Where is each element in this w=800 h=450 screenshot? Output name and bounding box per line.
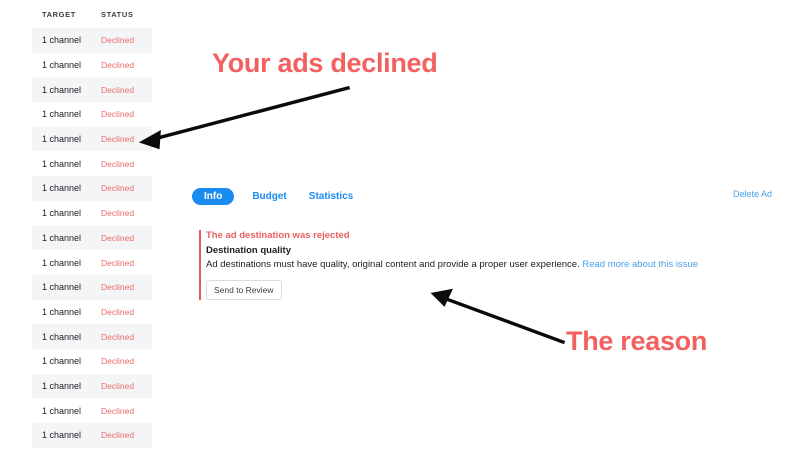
cell-target: 1 channel (42, 381, 101, 391)
cell-status: Declined (101, 233, 151, 243)
alert-body: Ad destinations must have quality, origi… (206, 258, 772, 272)
cell-target: 1 channel (42, 406, 101, 416)
cell-status: Declined (101, 183, 151, 193)
tab-info[interactable]: Info (192, 188, 234, 205)
cell-target: 1 channel (42, 60, 101, 70)
tab-bar: Info Budget Statistics (192, 186, 772, 206)
cell-target: 1 channel (42, 258, 101, 268)
table-row[interactable]: 1 channelDeclined (32, 374, 152, 399)
delete-ad-link[interactable]: Delete Ad (733, 189, 772, 199)
arrow-line-to-alert (441, 297, 563, 342)
cell-status: Declined (101, 109, 151, 119)
ads-table: TARGET STATUS 1 channelDeclined1 channel… (32, 0, 152, 448)
cell-status: Declined (101, 159, 151, 169)
alert-title: The ad destination was rejected (206, 230, 772, 241)
cell-status: Declined (101, 35, 151, 45)
cell-status: Declined (101, 60, 151, 70)
table-row[interactable]: 1 channelDeclined (32, 151, 152, 176)
cell-target: 1 channel (42, 233, 101, 243)
cell-target: 1 channel (42, 159, 101, 169)
cell-target: 1 channel (42, 208, 101, 218)
tab-statistics[interactable]: Statistics (305, 188, 357, 205)
cell-target: 1 channel (42, 109, 101, 119)
cell-status: Declined (101, 282, 151, 292)
annotation-reason: The reason (566, 326, 707, 357)
rejection-alert: The ad destination was rejected Destinat… (192, 230, 772, 300)
screenshot-root: TARGET STATUS 1 channelDeclined1 channel… (0, 0, 800, 450)
send-to-review-button[interactable]: Send to Review (206, 280, 282, 300)
table-row[interactable]: 1 channelDeclined (32, 102, 152, 127)
cell-target: 1 channel (42, 282, 101, 292)
tab-budget[interactable]: Budget (248, 188, 290, 205)
table-row[interactable]: 1 channelDeclined (32, 349, 152, 374)
cell-status: Declined (101, 258, 151, 268)
annotation-ads-declined: Your ads declined (212, 48, 437, 79)
read-more-link[interactable]: Read more about this issue (582, 259, 698, 270)
cell-status: Declined (101, 307, 151, 317)
cell-status: Declined (101, 430, 151, 440)
arrow-line-to-table (150, 88, 348, 140)
cell-target: 1 channel (42, 183, 101, 193)
cell-status: Declined (101, 134, 151, 144)
alert-subtitle: Destination quality (206, 245, 772, 256)
table-row[interactable]: 1 channelDeclined (32, 300, 152, 325)
table-row[interactable]: 1 channelDeclined (32, 398, 152, 423)
cell-status: Declined (101, 85, 151, 95)
cell-status: Declined (101, 208, 151, 218)
cell-status: Declined (101, 406, 151, 416)
alert-body-text: Ad destinations must have quality, origi… (206, 259, 580, 270)
table-row[interactable]: 1 channelDeclined (32, 176, 152, 201)
cell-target: 1 channel (42, 35, 101, 45)
table-row[interactable]: 1 channelDeclined (32, 423, 152, 448)
table-row[interactable]: 1 channelDeclined (32, 250, 152, 275)
table-body: 1 channelDeclined1 channelDeclined1 chan… (32, 28, 152, 448)
cell-status: Declined (101, 356, 151, 366)
ad-detail-panel: Info Budget Statistics Delete Ad The ad … (192, 186, 772, 300)
cell-target: 1 channel (42, 307, 101, 317)
table-row[interactable]: 1 channelDeclined (32, 28, 152, 53)
cell-status: Declined (101, 332, 151, 342)
cell-status: Declined (101, 381, 151, 391)
table-header-row: TARGET STATUS (32, 0, 152, 28)
column-header-target: TARGET (42, 10, 101, 19)
table-row[interactable]: 1 channelDeclined (32, 127, 152, 152)
table-row[interactable]: 1 channelDeclined (32, 53, 152, 78)
table-row[interactable]: 1 channelDeclined (32, 275, 152, 300)
table-row[interactable]: 1 channelDeclined (32, 77, 152, 102)
cell-target: 1 channel (42, 85, 101, 95)
cell-target: 1 channel (42, 134, 101, 144)
column-header-status: STATUS (101, 10, 151, 19)
table-row[interactable]: 1 channelDeclined (32, 226, 152, 251)
cell-target: 1 channel (42, 332, 101, 342)
cell-target: 1 channel (42, 356, 101, 366)
table-row[interactable]: 1 channelDeclined (32, 324, 152, 349)
cell-target: 1 channel (42, 430, 101, 440)
table-row[interactable]: 1 channelDeclined (32, 201, 152, 226)
